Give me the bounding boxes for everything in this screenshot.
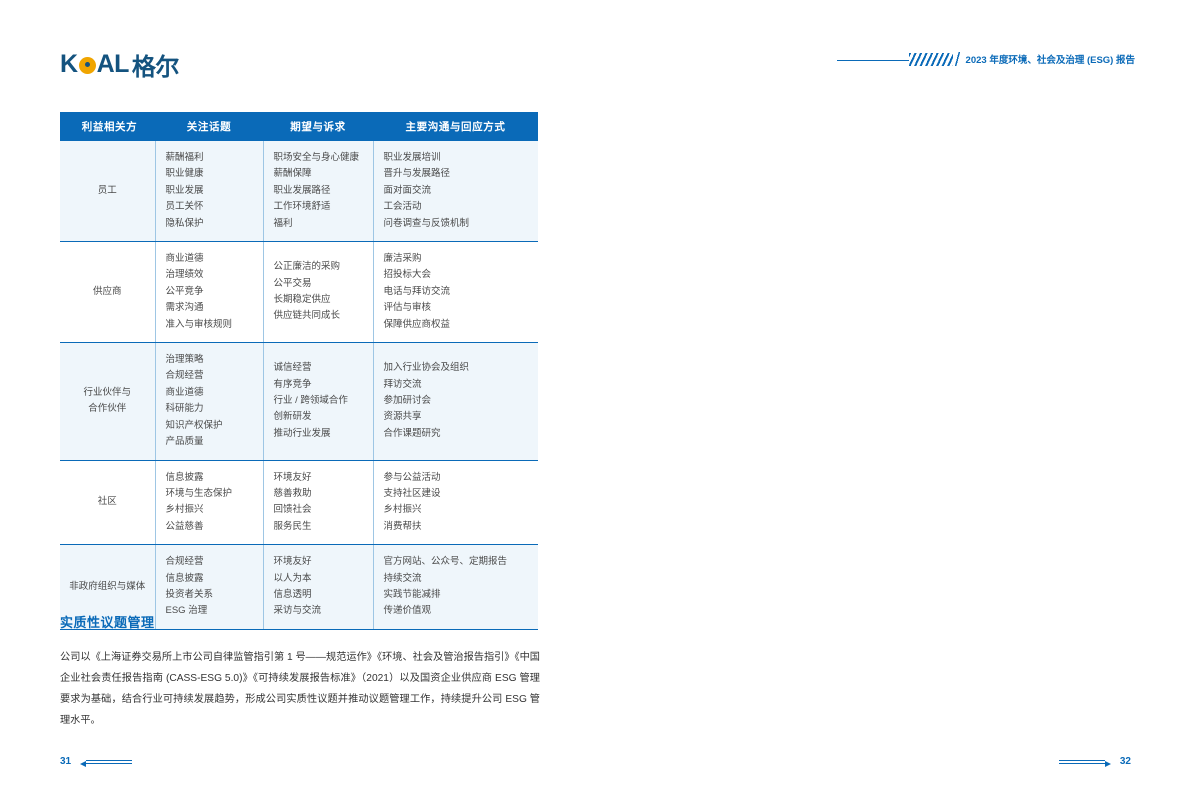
column-header-channels: 主要沟通与回应方式 <box>373 112 538 141</box>
page-number-left: 31 <box>60 756 132 767</box>
logo-letter-k: K <box>60 50 78 79</box>
cell-stakeholder: 员工 <box>60 141 155 242</box>
table-row: 员工 薪酬福利 职业健康 职业发展 员工关怀 隐私保护 职场安全与身心健康 薪酬… <box>60 141 538 242</box>
cell-topics: 薪酬福利 职业健康 职业发展 员工关怀 隐私保护 <box>155 141 263 242</box>
cell-channels: 职业发展培训 晋升与发展路径 面对面交流 工会活动 问卷调查与反馈机制 <box>373 141 538 242</box>
cell-topics: 商业道德 治理绩效 公平竞争 需求沟通 准入与审核规则 <box>155 242 263 343</box>
cell-channels: 廉洁采购 招投标大会 电话与拜访交流 评估与审核 保障供应商权益 <box>373 242 538 343</box>
header-rule <box>837 60 909 61</box>
cell-channels: 加入行业协会及组织 拜访交流 参加研讨会 资源共享 合作课题研究 <box>373 343 538 460</box>
cell-channels: 参与公益活动 支持社区建设 乡村振兴 消费帮扶 <box>373 460 538 545</box>
page-number-value: 32 <box>1120 756 1131 767</box>
page-number-value: 31 <box>60 756 71 767</box>
table-header-row: 利益相关方 关注话题 期望与诉求 主要沟通与回应方式 <box>60 112 538 141</box>
column-header-stakeholder: 利益相关方 <box>60 112 155 141</box>
table-row: 供应商 商业道德 治理绩效 公平竞争 需求沟通 准入与审核规则 公正廉洁的采购 … <box>60 242 538 343</box>
header-hatch-icon <box>909 53 953 66</box>
table-row: 社区 信息披露 环境与生态保护 乡村振兴 公益慈善 环境友好 慈善救助 回馈社会… <box>60 460 538 545</box>
arrow-left-icon <box>80 758 132 765</box>
cell-expectations: 职场安全与身心健康 薪酬保障 职业发展路径 工作环境舒适 福利 <box>263 141 373 242</box>
cell-topics: 治理策略 合规经营 商业道德 科研能力 知识产权保护 产品质量 <box>155 343 263 460</box>
logo-chinese-name: 格尔 <box>132 47 179 82</box>
stakeholder-engagement-table: 利益相关方 关注话题 期望与诉求 主要沟通与回应方式 员工 薪酬福利 职业健康 … <box>60 112 538 630</box>
company-logo: K AL 格尔 <box>60 47 179 82</box>
cell-stakeholder: 社区 <box>60 460 155 545</box>
cell-expectations: 诚信经营 有序竞争 行业 / 跨领域合作 创新研发 推动行业发展 <box>263 343 373 460</box>
table-row: 行业伙伴与 合作伙伴 治理策略 合规经营 商业道德 科研能力 知识产权保护 产品… <box>60 343 538 460</box>
left-page: K AL 格尔 利益相关方 关注话题 期望与诉求 主要沟通与回应方式 员工 薪酬… <box>0 0 595 809</box>
logo-keyhole-icon <box>79 57 96 74</box>
cell-stakeholder: 行业伙伴与 合作伙伴 <box>60 343 155 460</box>
column-header-expectations: 期望与诉求 <box>263 112 373 141</box>
cell-expectations: 公正廉洁的采购 公平交易 长期稳定供应 供应链共同成长 <box>263 242 373 343</box>
logo-letters-al: AL <box>97 50 129 79</box>
cell-topics: 信息披露 环境与生态保护 乡村振兴 公益慈善 <box>155 460 263 545</box>
cell-stakeholder: 供应商 <box>60 242 155 343</box>
page-number-right: 32 <box>1059 756 1131 767</box>
right-page: 2023 年度环境、社会及治理 (ESG) 报告 2023 年度，公司从治理、社… <box>596 0 1191 809</box>
header-slash-icon <box>953 52 962 66</box>
running-header: 2023 年度环境、社会及治理 (ESG) 报告 <box>837 52 1135 68</box>
arrow-right-icon <box>1059 758 1111 765</box>
materiality-body: 公司以《上海证券交易所上市公司自律监管指引第 1 号——规范运作》《环境、社会及… <box>60 647 540 731</box>
materiality-title: 实质性议题管理 <box>60 612 540 631</box>
column-header-topics: 关注话题 <box>155 112 263 141</box>
cell-expectations: 环境友好 慈善救助 回馈社会 服务民生 <box>263 460 373 545</box>
header-report-title: 2023 年度环境、社会及治理 (ESG) 报告 <box>966 52 1135 66</box>
materiality-section: 实质性议题管理 公司以《上海证券交易所上市公司自律监管指引第 1 号——规范运作… <box>60 612 540 731</box>
